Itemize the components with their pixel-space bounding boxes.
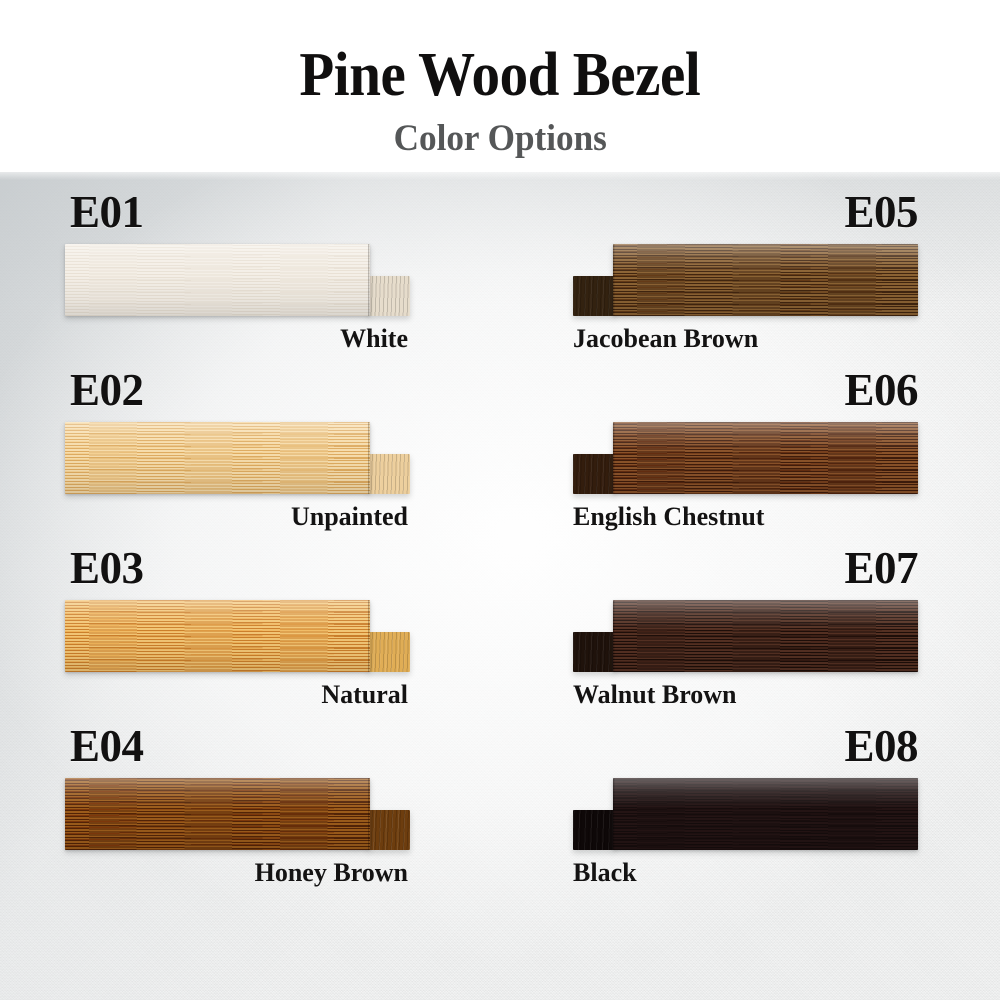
swatch-code-e02: E02	[70, 368, 144, 413]
sample-face	[65, 600, 370, 672]
sample-edge-line	[368, 422, 370, 494]
sample-edge-line	[613, 244, 615, 316]
sample-edge-line	[368, 600, 370, 672]
swatch-code-e07: E07	[844, 546, 918, 591]
rabbet-step	[573, 454, 615, 494]
sample-sheen	[65, 600, 370, 672]
swatch-label-e03: Natural	[321, 682, 408, 708]
swatch-cell-e02[interactable]: E02Unpainted	[65, 368, 410, 528]
end-grain-shade	[573, 632, 615, 672]
sample-edge-line	[613, 422, 615, 494]
sample-sheen	[65, 244, 370, 316]
rabbet-step	[368, 632, 410, 672]
sample-sheen	[613, 778, 918, 850]
sample-sheen	[613, 422, 918, 494]
end-grain-texture	[368, 632, 410, 672]
end-grain-texture	[368, 454, 410, 494]
wood-sample-e05[interactable]	[573, 244, 918, 316]
swatch-code-e04: E04	[70, 724, 144, 769]
swatch-grid: E01WhiteE02UnpaintedE03NaturalE04Honey B…	[0, 172, 1000, 1000]
sample-edge-line	[368, 244, 370, 316]
rabbet-step	[368, 810, 410, 850]
sample-sheen	[613, 600, 918, 672]
sample-face	[613, 778, 918, 850]
swatch-cell-e03[interactable]: E03Natural	[65, 546, 410, 706]
sample-face	[65, 422, 370, 494]
swatch-label-e08: Black	[573, 860, 637, 886]
rabbet-step	[368, 454, 410, 494]
swatch-label-e02: Unpainted	[291, 504, 408, 530]
product-color-options-sheet: Pine Wood Bezel Color Options E01WhiteE0…	[0, 0, 1000, 1000]
end-grain-shade	[573, 276, 615, 316]
swatch-cell-e06[interactable]: E06English Chestnut	[573, 368, 918, 528]
sample-face	[613, 244, 918, 316]
sample-sheen	[65, 422, 370, 494]
rabbet-step	[573, 276, 615, 316]
sample-edge-line	[613, 778, 615, 850]
swatch-label-e04: Honey Brown	[255, 860, 408, 886]
rabbet-step	[368, 276, 410, 316]
swatch-code-e01: E01	[70, 190, 144, 235]
swatch-cell-e08[interactable]: E08Black	[573, 724, 918, 884]
sample-sheen	[65, 778, 370, 850]
swatch-code-e05: E05	[844, 190, 918, 235]
page-title: Pine Wood Bezel	[300, 44, 701, 106]
swatch-code-e03: E03	[70, 546, 144, 591]
swatch-cell-e04[interactable]: E04Honey Brown	[65, 724, 410, 884]
end-grain-texture	[368, 810, 410, 850]
sample-face	[613, 600, 918, 672]
sample-edge-line	[368, 778, 370, 850]
sample-edge-line	[613, 600, 615, 672]
swatch-label-e05: Jacobean Brown	[573, 326, 758, 352]
swatch-label-e07: Walnut Brown	[573, 682, 737, 708]
swatch-code-e06: E06	[844, 368, 918, 413]
swatch-label-e06: English Chestnut	[573, 504, 764, 530]
wood-sample-e08[interactable]	[573, 778, 918, 850]
page-subtitle: Color Options	[393, 120, 606, 157]
sample-face	[65, 244, 370, 316]
wood-sample-e06[interactable]	[573, 422, 918, 494]
wood-sample-e07[interactable]	[573, 600, 918, 672]
header-band: Pine Wood Bezel Color Options	[0, 0, 1000, 172]
end-grain-shade	[573, 810, 615, 850]
rabbet-step	[573, 810, 615, 850]
sample-sheen	[613, 244, 918, 316]
sample-face	[65, 778, 370, 850]
swatch-cell-e05[interactable]: E05Jacobean Brown	[573, 190, 918, 350]
swatch-cell-e01[interactable]: E01White	[65, 190, 410, 350]
end-grain-shade	[573, 454, 615, 494]
swatch-label-e01: White	[340, 326, 408, 352]
sample-face	[613, 422, 918, 494]
rabbet-step	[573, 632, 615, 672]
wood-sample-e02[interactable]	[65, 422, 410, 494]
wood-sample-e01[interactable]	[65, 244, 410, 316]
end-grain-texture	[368, 276, 410, 316]
swatch-code-e08: E08	[844, 724, 918, 769]
wood-sample-e03[interactable]	[65, 600, 410, 672]
swatch-cell-e07[interactable]: E07Walnut Brown	[573, 546, 918, 706]
wood-sample-e04[interactable]	[65, 778, 410, 850]
